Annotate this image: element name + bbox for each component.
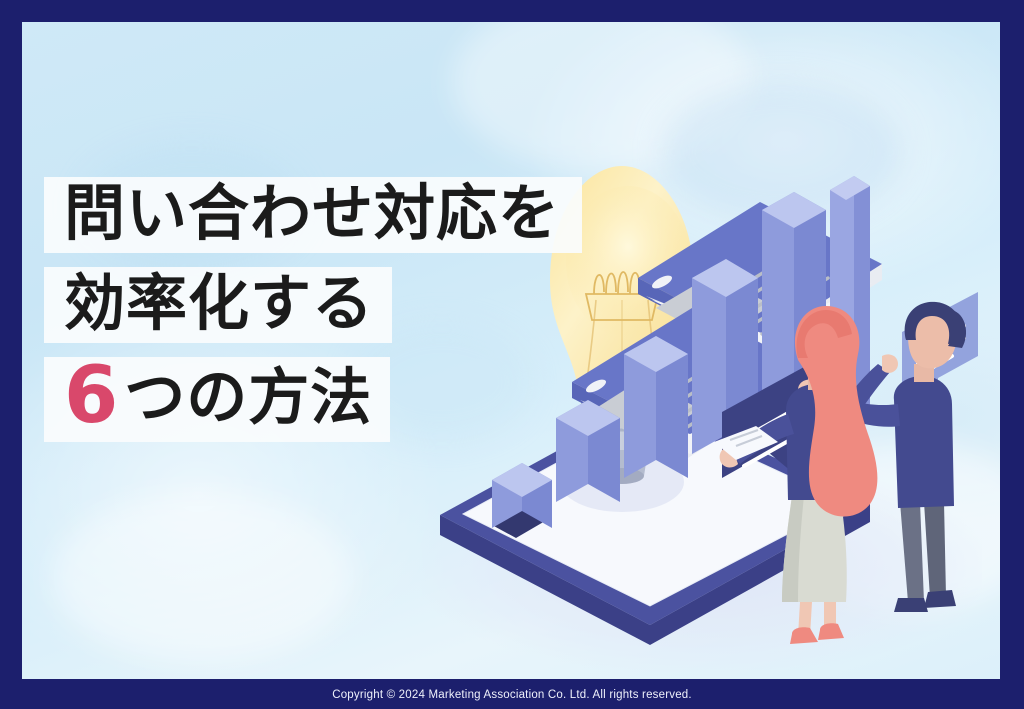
headline-line-1: 問い合わせ対応を [44, 177, 582, 253]
headline: 問い合わせ対応を 効率化する 6つの方法 [44, 177, 634, 456]
footer: Copyright © 2024 Marketing Association C… [0, 681, 1024, 709]
copyright-text: Copyright © 2024 Marketing Association C… [332, 689, 692, 701]
headline-line-3: 6つの方法 [44, 357, 390, 441]
cloud-wash-5 [52, 492, 352, 662]
headline-number: 6 [64, 361, 118, 431]
poster-canvas: 問い合わせ対応を 効率化する 6つの方法 Copyright © 2024 Ma… [0, 0, 1024, 709]
headline-line-2: 効率化する [44, 267, 392, 343]
